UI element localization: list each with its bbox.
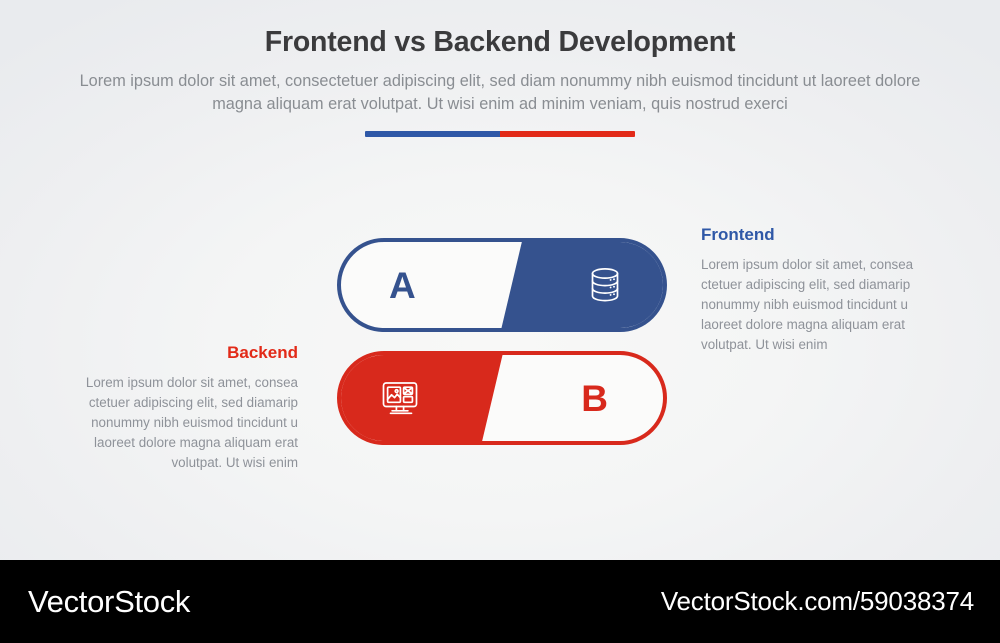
vectorstock-url: VectorStock.com/59038374 (661, 586, 974, 617)
infographic-slide: Frontend vs Backend Development Lorem ip… (0, 0, 1000, 560)
footer-watermark-bar: VectorStock VectorStock.com/59038374 (0, 560, 1000, 643)
capsule-stack: A B (337, 238, 667, 445)
capsule-a-letter: A (389, 242, 416, 328)
frontend-title: Frontend (701, 225, 951, 245)
capsule-b-backend[interactable]: B (337, 351, 667, 445)
frontend-description-block: Frontend Lorem ipsum dolor sit amet, con… (701, 225, 951, 355)
divider-half-red (500, 131, 635, 137)
capsule-a-frontend[interactable]: A (337, 238, 667, 332)
title-divider (365, 131, 635, 137)
page-title: Frontend vs Backend Development (0, 0, 1000, 61)
monitor-wireframe-icon (378, 376, 422, 420)
backend-description-block: Backend Lorem ipsum dolor sit amet, cons… (48, 343, 298, 473)
capsule-b-letter: B (581, 355, 608, 441)
header: Frontend vs Backend Development Lorem ip… (0, 0, 1000, 117)
frontend-description: Lorem ipsum dolor sit amet, consea ctetu… (701, 245, 951, 354)
backend-title: Backend (48, 343, 298, 363)
vectorstock-logo: VectorStock (28, 584, 190, 620)
backend-description: Lorem ipsum dolor sit amet, consea ctetu… (48, 363, 298, 472)
database-icon (583, 263, 627, 307)
divider-half-blue (365, 131, 500, 137)
page-subtitle: Lorem ipsum dolor sit amet, consectetuer… (60, 61, 940, 117)
